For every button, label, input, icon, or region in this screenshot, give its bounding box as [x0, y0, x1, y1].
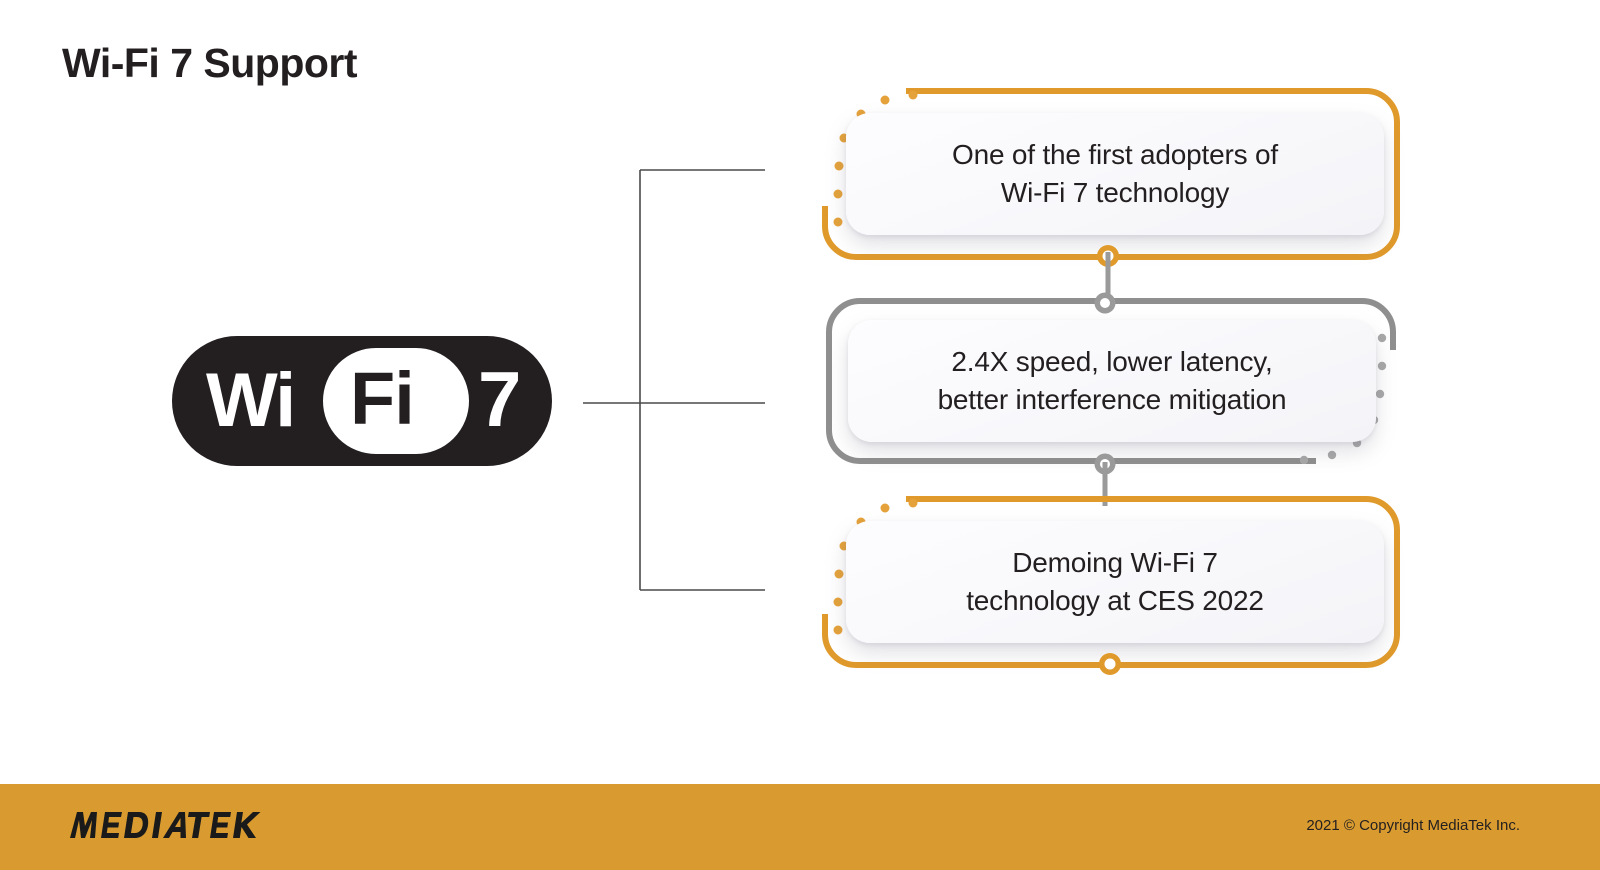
corner-mask-edge: [818, 492, 906, 508]
logo-text-wi: Wi: [206, 362, 294, 440]
card-ces-demo[interactable]: Demoing Wi-Fi 7 technology at CES 2022: [822, 496, 1400, 668]
corner-mask-edge: [1316, 452, 1400, 468]
card-inner-panel: One of the first adopters of Wi-Fi 7 tec…: [846, 113, 1384, 235]
card-text: One of the first adopters of Wi-Fi 7 tec…: [952, 136, 1278, 212]
logo-text-seven: 7: [478, 360, 521, 438]
slide-canvas: Wi-Fi 7 Support Wi Fi 7: [0, 0, 1600, 870]
card-speed-latency[interactable]: 2.4X speed, lower latency, better interf…: [826, 298, 1396, 464]
corner-mask-edge: [818, 84, 906, 100]
card-inner-panel: 2.4X speed, lower latency, better interf…: [848, 320, 1376, 442]
bracket-connector: [560, 150, 790, 610]
card-text: 2.4X speed, lower latency, better interf…: [938, 343, 1287, 419]
logo-text-fi: Fi: [350, 360, 414, 438]
node-card2-top: [1092, 290, 1118, 316]
page-title: Wi-Fi 7 Support: [62, 40, 357, 87]
wifi-7-logo: Wi Fi 7: [172, 336, 552, 466]
mediatek-logo: [64, 808, 264, 842]
copyright-text: 2021 © Copyright MediaTek Inc.: [1306, 817, 1520, 834]
node-card3-bottom: [1096, 650, 1124, 678]
card-text: Demoing Wi-Fi 7 technology at CES 2022: [966, 544, 1264, 620]
card-inner-panel: Demoing Wi-Fi 7 technology at CES 2022: [846, 521, 1384, 643]
card-first-adopter[interactable]: One of the first adopters of Wi-Fi 7 tec…: [822, 88, 1400, 260]
